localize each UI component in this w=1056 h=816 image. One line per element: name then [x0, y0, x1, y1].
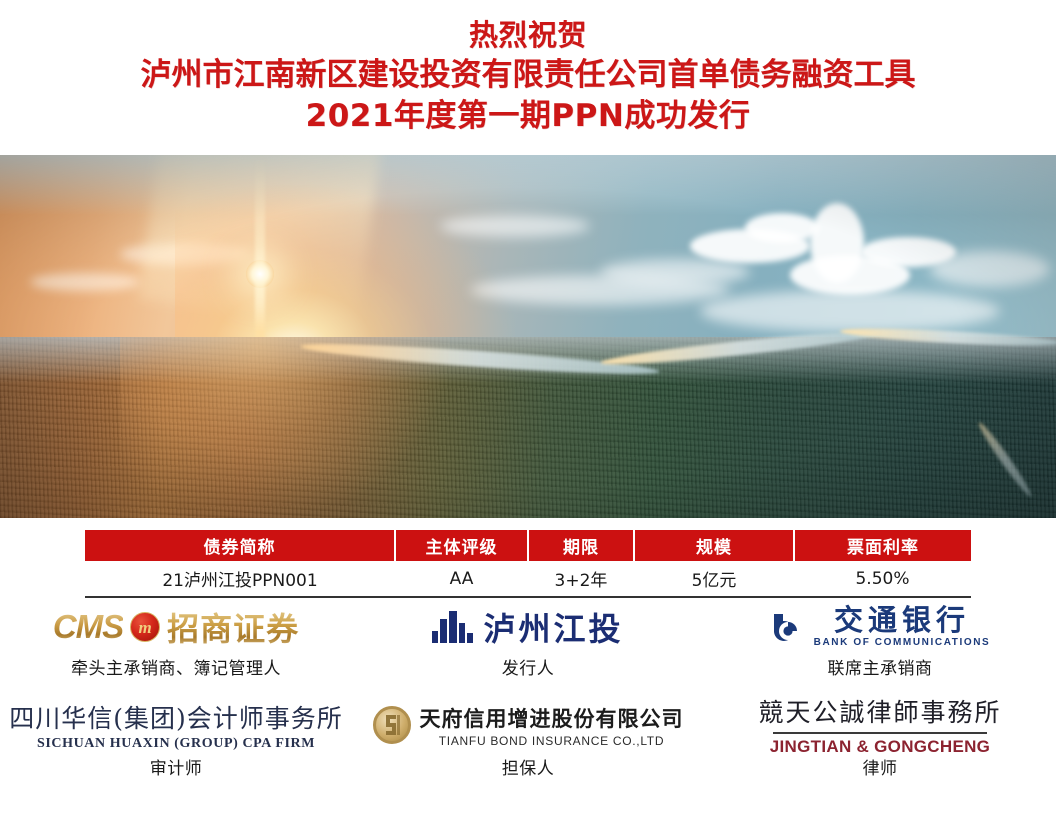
column-header-bond-name: 债券简称 — [85, 530, 395, 561]
column-header-coupon-rate: 票面利率 — [794, 530, 971, 561]
cell-scale: 5亿元 — [634, 561, 794, 597]
participant-row-primary: CMS m 招商证券 牵头主承销商、簿记管理人 泸州江投 发行人 — [0, 604, 1056, 679]
huaxin-wordmark-cn: 四川华信(集团)会计师事务所 — [9, 699, 343, 735]
table-row: 21泸州江投PPN001 AA 3+2年 5亿元 5.50% — [85, 561, 971, 597]
tianfu-wordmark-cn: 天府信用增进股份有限公司 — [420, 703, 684, 733]
cell-bond-name: 21泸州江投PPN001 — [85, 561, 395, 597]
column-header-scale: 规模 — [634, 530, 794, 561]
participant-row-secondary: 四川华信(集团)会计师事务所 SICHUAN HUAXIN (GROUP) CP… — [0, 700, 1056, 779]
cms-emblem-icon: m — [130, 612, 160, 642]
role-label: 审计师 — [0, 754, 352, 779]
cms-wordmark-en: CMS — [53, 608, 123, 646]
bocom-logo: 交通银行 BANK OF COMMUNICATIONS — [704, 604, 1056, 650]
tianfu-emblem-icon — [373, 706, 411, 744]
bocom-wordmark-en: BANK OF COMMUNICATIONS — [814, 637, 991, 648]
luzhou-jiangtou-logo: 泸州江投 — [352, 604, 704, 650]
jingtian-logo: 競天公誠律師事務所 JINGTIAN & GONGCHENG — [704, 700, 1056, 750]
participant-luzhou-jiangtou: 泸州江投 发行人 — [352, 604, 704, 679]
title-line-congratulations: 热烈祝贺 — [0, 18, 1056, 52]
sichuan-huaxin-logo: 四川华信(集团)会计师事务所 SICHUAN HUAXIN (GROUP) CP… — [0, 700, 352, 750]
page-title: 热烈祝贺 泸州市江南新区建设投资有限责任公司首单债务融资工具 2021年度第一期… — [0, 0, 1056, 134]
building-icon — [432, 611, 474, 643]
participant-sichuan-huaxin: 四川华信(集团)会计师事务所 SICHUAN HUAXIN (GROUP) CP… — [0, 700, 352, 779]
role-label: 担保人 — [352, 754, 704, 779]
role-label: 牵头主承销商、簿记管理人 — [0, 654, 352, 679]
participant-jingtian-gongcheng: 競天公誠律師事務所 JINGTIAN & GONGCHENG 律师 — [704, 700, 1056, 779]
cell-coupon-rate: 5.50% — [794, 561, 971, 597]
bond-info-table: 债券简称 主体评级 期限 规模 票面利率 21泸州江投PPN001 AA 3+2… — [85, 530, 971, 598]
jingtian-wordmark-cn: 競天公誠律師事務所 — [758, 693, 1001, 729]
participant-cms: CMS m 招商证券 牵头主承销商、簿记管理人 — [0, 604, 352, 679]
role-label: 发行人 — [352, 654, 704, 679]
cms-logo: CMS m 招商证券 — [0, 604, 352, 650]
tianfu-logo: 天府信用增进股份有限公司 TIANFU BOND INSURANCE CO.,L… — [352, 700, 704, 750]
cms-wordmark-cn: 招商证券 — [167, 604, 299, 650]
participant-tianfu-bond-insurance: 天府信用增进股份有限公司 TIANFU BOND INSURANCE CO.,L… — [352, 700, 704, 779]
cms-emblem-glyph: m — [139, 619, 152, 636]
role-label: 联席主承销商 — [704, 654, 1056, 679]
bocom-emblem-icon — [770, 612, 806, 642]
hero-panorama-photo — [0, 155, 1056, 518]
huaxin-wordmark-en: SICHUAN HUAXIN (GROUP) CPA FIRM — [9, 736, 343, 752]
luzhou-jiangtou-wordmark: 泸州江投 — [483, 604, 623, 650]
table-header-row: 债券简称 主体评级 期限 规模 票面利率 — [85, 530, 971, 561]
title-line-product: 2021年度第一期PPN成功发行 — [0, 98, 1056, 135]
column-header-term: 期限 — [528, 530, 634, 561]
column-header-rating: 主体评级 — [395, 530, 528, 561]
bocom-wordmark-cn: 交通银行 — [814, 606, 991, 635]
title-line-issuer: 泸州市江南新区建设投资有限责任公司首单债务融资工具 — [0, 57, 1056, 94]
cell-rating: AA — [395, 561, 528, 597]
tianfu-wordmark-en: TIANFU BOND INSURANCE CO.,LTD — [420, 734, 684, 748]
role-label: 律师 — [704, 754, 1056, 779]
participant-bank-of-communications: 交通银行 BANK OF COMMUNICATIONS 联席主承销商 — [704, 604, 1056, 679]
cell-term: 3+2年 — [528, 561, 634, 597]
divider-rule — [773, 732, 987, 734]
photo-vignette — [0, 155, 1056, 518]
